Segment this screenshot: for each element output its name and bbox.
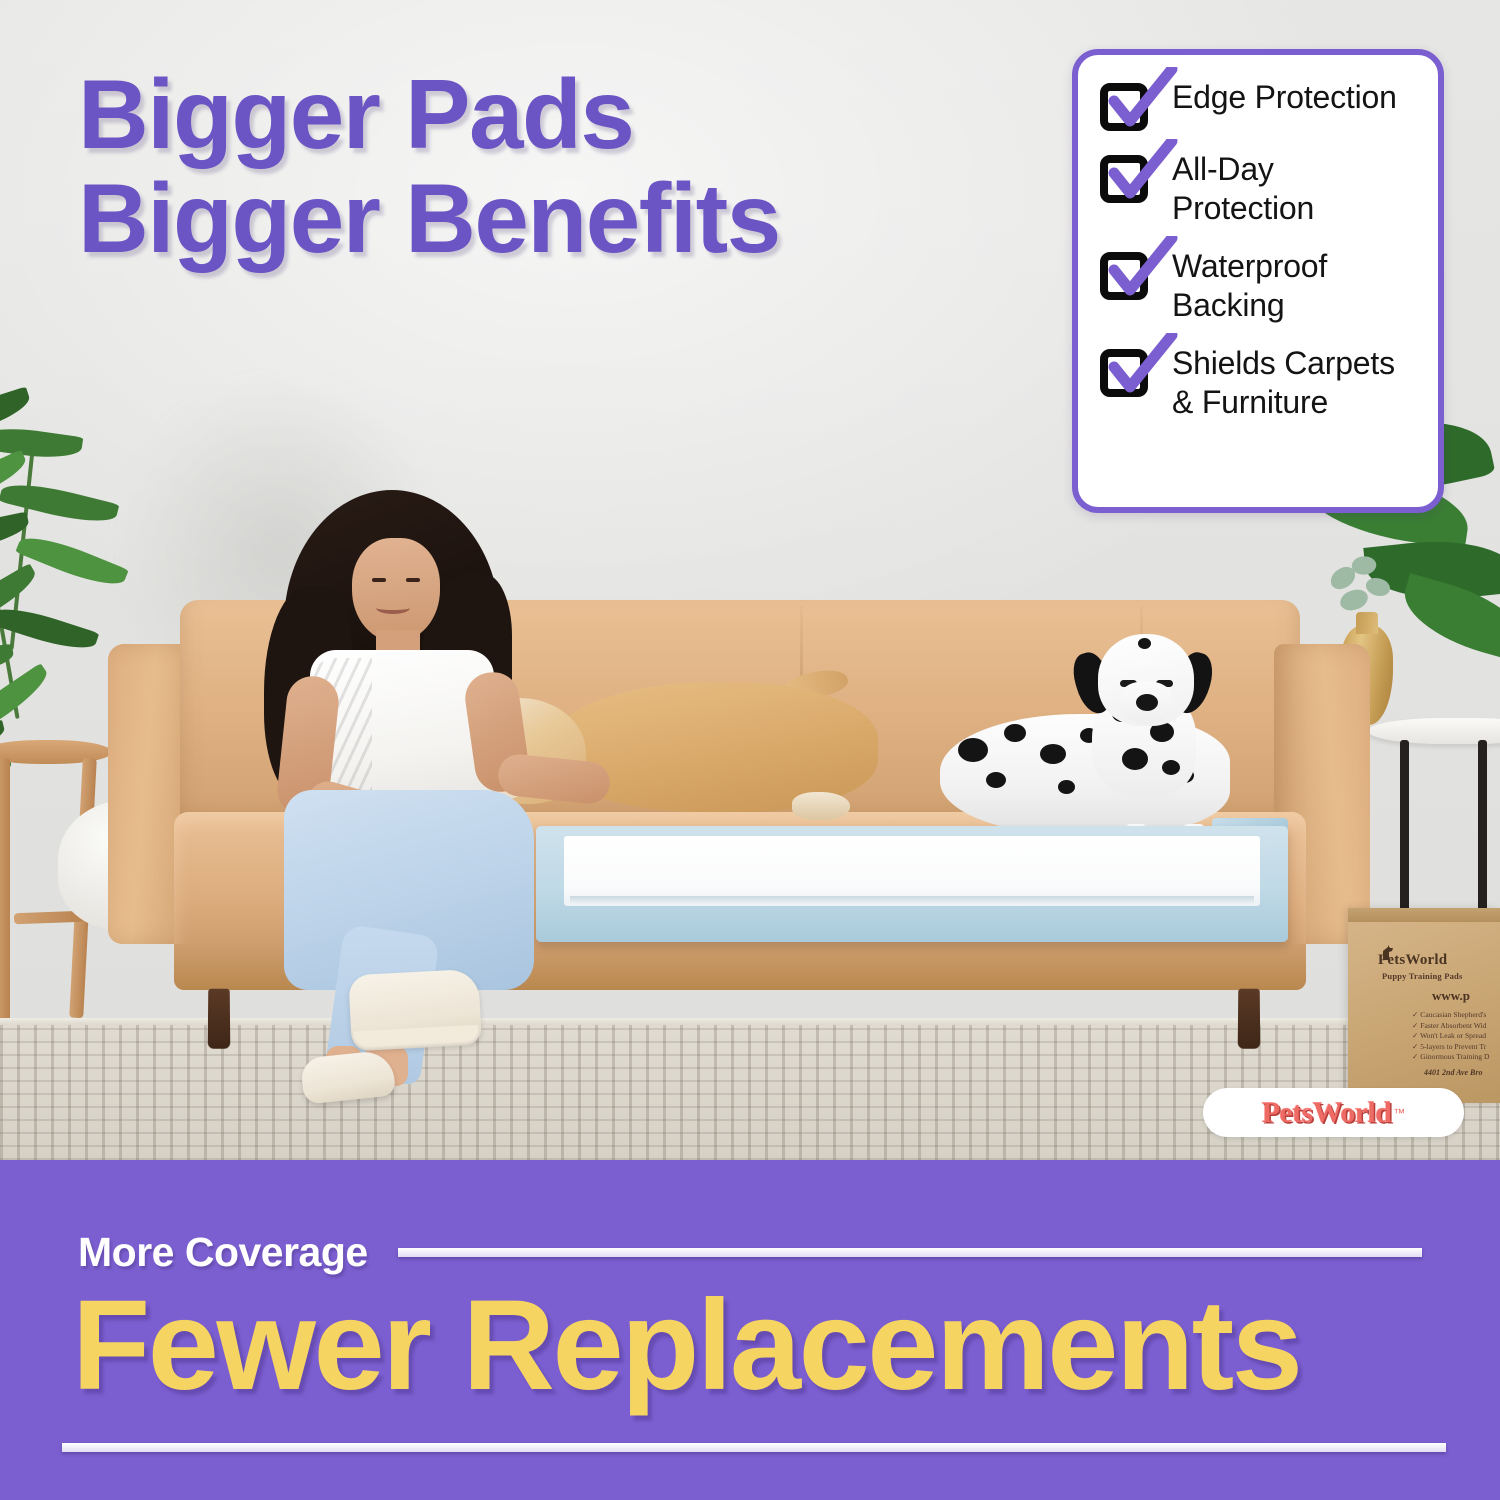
brand-logo-badge: PetsWorld ™ bbox=[1203, 1088, 1464, 1137]
checkbox-checked-icon bbox=[1100, 248, 1152, 300]
box-subtitle: Puppy Training Pads bbox=[1382, 971, 1500, 981]
sofa-leg bbox=[1238, 989, 1261, 1049]
sofa-leg bbox=[208, 989, 231, 1049]
checklist-item-label: All-Day Protection bbox=[1172, 149, 1420, 228]
page-title: Bigger Pads Bigger Benefits bbox=[78, 62, 978, 270]
banner-divider-top bbox=[398, 1248, 1422, 1257]
pad-fold-shadow bbox=[570, 896, 1254, 904]
box-bullet: ✓ Caucasian Shepherd's bbox=[1412, 1010, 1500, 1021]
product-box-flap bbox=[1348, 908, 1500, 922]
checkbox-checked-icon bbox=[1100, 345, 1152, 397]
trademark-symbol: ™ bbox=[1393, 1106, 1405, 1120]
stool-leg bbox=[0, 758, 10, 1028]
checklist-item-waterproof-backing: Waterproof Backing bbox=[1100, 246, 1420, 325]
box-brand-name: PetsWorld bbox=[1378, 952, 1498, 969]
banner-headline: Fewer Replacements bbox=[72, 1280, 1452, 1412]
checklist-item-all-day-protection: All-Day Protection bbox=[1100, 149, 1420, 228]
puppy-training-pad bbox=[536, 826, 1288, 942]
banner-eyebrow: More Coverage bbox=[78, 1229, 368, 1276]
woman-with-dog bbox=[248, 490, 648, 1070]
box-bullet: ✓ Won't Leak or Spread bbox=[1412, 1031, 1500, 1042]
brand-name: PetsWorld bbox=[1262, 1096, 1392, 1130]
headline-line-1: Bigger Pads bbox=[78, 62, 978, 166]
box-bullet: ✓ Ginormous Training D bbox=[1412, 1052, 1500, 1063]
checkbox-checked-icon bbox=[1100, 79, 1152, 131]
checkbox-checked-icon bbox=[1100, 151, 1152, 203]
box-address: 4401 2nd Ave Bro bbox=[1424, 1068, 1482, 1077]
headline-line-2: Bigger Benefits bbox=[78, 166, 978, 270]
banner-divider-bottom bbox=[62, 1443, 1446, 1452]
box-bullet: ✓ Faster Absorbent Wid bbox=[1412, 1021, 1500, 1032]
checklist-item-label: Waterproof Backing bbox=[1172, 246, 1420, 325]
box-bullet: ✓ 5-layers to Prevent Tr bbox=[1412, 1042, 1500, 1053]
bottom-banner: More Coverage Fewer Replacements bbox=[0, 1160, 1500, 1500]
checklist-item-shields-carpets-furniture: Shields Carpets & Furniture bbox=[1100, 343, 1420, 422]
box-bullet-list: ✓ Caucasian Shepherd's ✓ Faster Absorben… bbox=[1412, 1010, 1500, 1063]
checklist-item-label: Edge Protection bbox=[1172, 77, 1397, 117]
box-website: www.p bbox=[1432, 988, 1470, 1004]
checklist-item-label: Shields Carpets & Furniture bbox=[1172, 343, 1420, 422]
checklist-item-edge-protection: Edge Protection bbox=[1100, 77, 1420, 131]
benefits-checklist-card: Edge Protection All-Day Protection Water… bbox=[1072, 49, 1444, 513]
banner-eyebrow-row: More Coverage bbox=[78, 1228, 1422, 1276]
product-marketing-image: PetsWorld Puppy Training Pads www.p ✓ Ca… bbox=[0, 0, 1500, 1500]
